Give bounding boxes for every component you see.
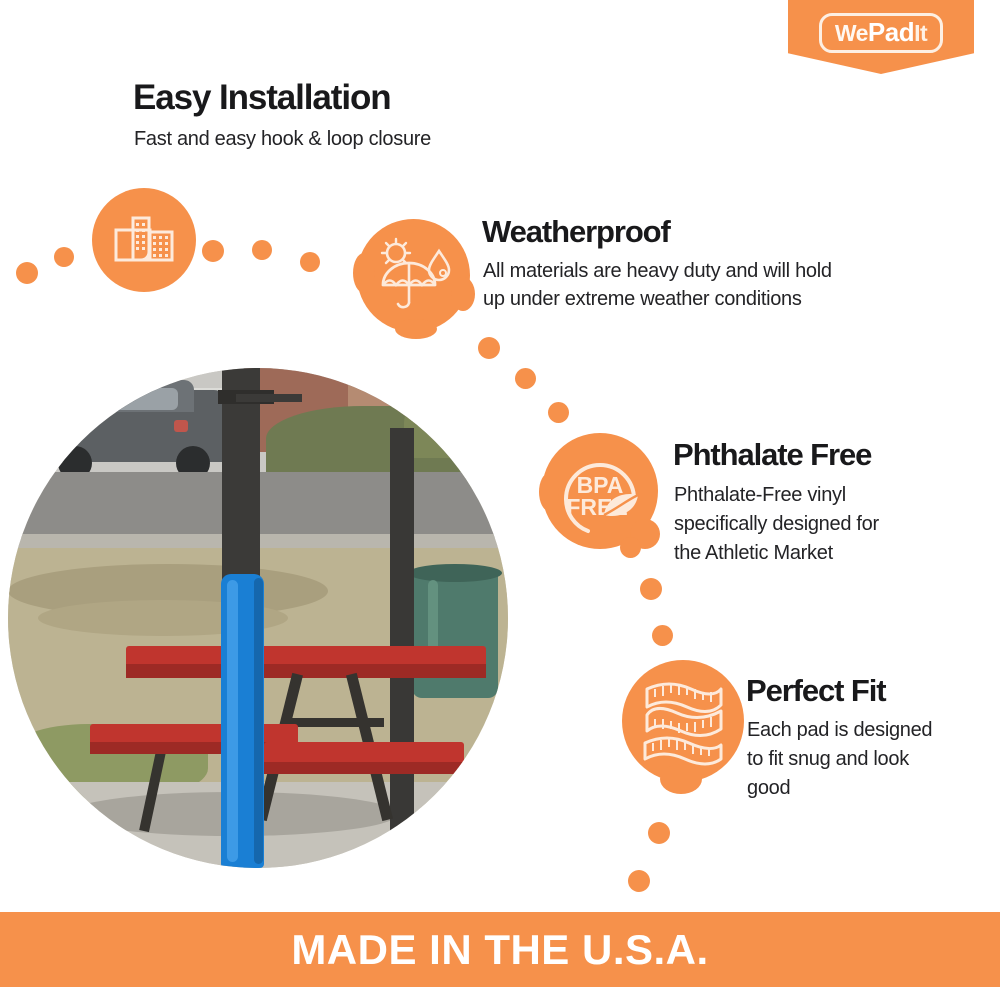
photo-barrel-rim: [408, 564, 502, 582]
trail-dot: [652, 625, 673, 646]
desc-line: the Athletic Market: [674, 539, 879, 568]
desc-line: All materials are heavy duty and will ho…: [483, 257, 832, 285]
photo-suv-window: [78, 388, 178, 410]
made-in-usa-banner: MADE IN THE U.S.A.: [0, 912, 1000, 987]
feature-title-easy-installation: Easy Installation: [133, 78, 391, 118]
pad-install-icon-glyph: [113, 212, 175, 268]
photo-taillight: [174, 420, 188, 432]
wepadit-logo-badge[interactable]: We Pad It: [788, 0, 974, 74]
desc-line: to fit snug and look: [747, 745, 932, 774]
trail-dot: [628, 870, 650, 892]
photo-trash-barrel: [412, 568, 498, 698]
photo-bench-right-edge: [264, 762, 464, 774]
trail-dot: [16, 262, 38, 284]
feature-desc-perfect-fit: Each pad is designed to fit snug and loo…: [747, 716, 932, 803]
feature-desc-weatherproof: All materials are heavy duty and will ho…: [483, 257, 832, 313]
photo-hedge-secondary: [404, 388, 508, 458]
feature-title-phthalate-free: Phthalate Free: [673, 437, 871, 473]
photo-pad-shadow: [254, 578, 263, 864]
photo-table-brace: [284, 718, 384, 727]
trail-dot: [640, 578, 662, 600]
trail-dot: [300, 252, 320, 272]
trail-dot: [202, 240, 224, 262]
sun-umbrella-rain-icon-glyph: [373, 237, 455, 315]
blob-nub: [451, 277, 475, 311]
bpa-free-leaf-icon-glyph: BPA FREE: [552, 443, 648, 539]
photo-post-right: [390, 428, 414, 848]
bpa-free-leaf-icon: BPA FREE: [542, 433, 658, 549]
pad-install-icon: [92, 188, 196, 292]
desc-line: good: [747, 774, 932, 803]
measuring-tape-icon: [622, 660, 744, 782]
trail-dot: [548, 402, 569, 423]
desc-line: Fast and easy hook & loop closure: [134, 126, 431, 152]
trail-dot: [620, 537, 641, 558]
logo-text-pad: Pad: [868, 19, 914, 45]
feature-title-weatherproof: Weatherproof: [482, 214, 670, 250]
desc-line: Each pad is designed: [747, 716, 932, 745]
infographic-page: We Pad It Easy Installation Fast and eas…: [0, 0, 1000, 987]
photo-table-top-edge: [126, 664, 486, 678]
desc-line: specifically designed for: [674, 510, 879, 539]
trail-dot: [54, 247, 74, 267]
blob-nub: [395, 319, 437, 339]
product-photo: [8, 368, 508, 868]
measuring-tape-icon-glyph: [635, 671, 731, 771]
trail-dot: [515, 368, 536, 389]
desc-line: Phthalate-Free vinyl: [674, 481, 879, 510]
feature-desc-easy-installation: Fast and easy hook & loop closure: [134, 126, 431, 152]
feature-title-perfect-fit: Perfect Fit: [746, 673, 886, 709]
photo-post-arm: [236, 394, 302, 402]
trail-dot: [252, 240, 272, 260]
logo-text-we: We: [835, 22, 868, 45]
desc-line: up under extreme weather conditions: [483, 285, 832, 313]
sun-umbrella-rain-icon: [357, 219, 470, 332]
feature-desc-phthalate-free: Phthalate-Free vinyl specifically design…: [674, 481, 879, 568]
made-in-usa-text: MADE IN THE U.S.A.: [291, 926, 708, 974]
trail-dot: [648, 822, 670, 844]
logo-outline-box: We Pad It: [819, 13, 943, 53]
trail-dot: [478, 337, 500, 359]
photo-pad-highlight: [227, 580, 238, 862]
logo-text-it: It: [914, 22, 927, 45]
